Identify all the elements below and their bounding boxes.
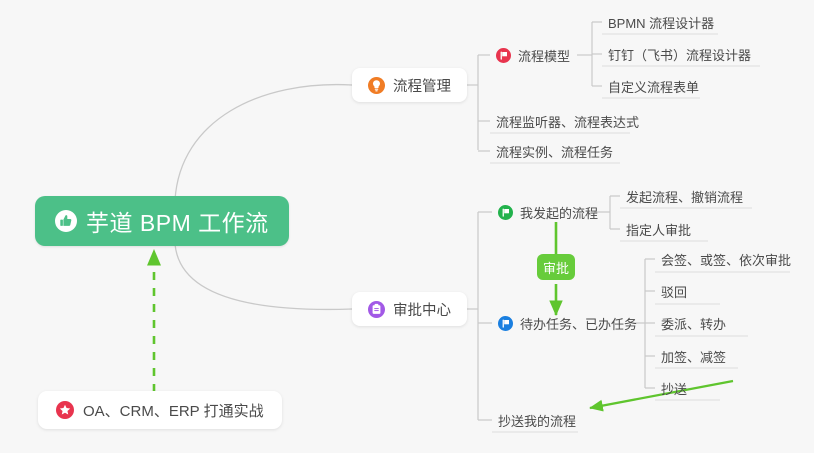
node-label-countersign: 会签、或签、依次审批: [661, 250, 791, 269]
node-label-custom-form: 自定义流程表单: [608, 77, 699, 96]
node-cc[interactable]: 抄送: [657, 375, 691, 401]
green-flag-icon: [498, 205, 513, 220]
branch-node-process-management[interactable]: 流程管理: [352, 68, 467, 102]
node-bpmn-designer[interactable]: BPMN 流程设计器: [604, 9, 718, 35]
root-node[interactable]: 芋道 BPM 工作流: [35, 196, 289, 246]
node-label-assigned-approval: 指定人审批: [626, 220, 691, 239]
node-label-add-remove-sign: 加签、减签: [661, 347, 726, 366]
node-label-process-model: 流程模型: [518, 46, 570, 65]
node-process-model[interactable]: 流程模型: [492, 42, 574, 68]
node-custom-form[interactable]: 自定义流程表单: [604, 73, 703, 99]
mindmap-canvas: 芋道 BPM 工作流 流程管理 流程模型 BPMN 流程设计器 钉钉（飞书: [0, 0, 814, 453]
node-label-todo-done-tasks: 待办任务、已办任务: [520, 314, 637, 333]
node-process-listener[interactable]: 流程监听器、流程表达式: [492, 108, 643, 134]
branch-node-approval-center[interactable]: 审批中心: [352, 292, 467, 326]
integration-callout[interactable]: OA、CRM、ERP 打通实战: [38, 391, 282, 429]
node-start-cancel-process[interactable]: 发起流程、撤销流程: [622, 183, 747, 209]
blue-flag-icon: [498, 316, 513, 331]
node-label-cc-my-process: 抄送我的流程: [498, 411, 576, 430]
node-todo-done-tasks[interactable]: 待办任务、已办任务: [494, 310, 641, 336]
node-process-instance[interactable]: 流程实例、流程任务: [492, 138, 617, 164]
node-label-process-instance: 流程实例、流程任务: [496, 142, 613, 161]
red-star-icon: [56, 401, 74, 419]
node-label-my-started-process: 我发起的流程: [520, 203, 598, 222]
node-label-dingtalk-designer: 钉钉（飞书）流程设计器: [608, 45, 751, 64]
thumbs-up-icon: [55, 210, 77, 232]
root-label: 芋道 BPM 工作流: [86, 204, 269, 238]
branch-label-process-management: 流程管理: [393, 75, 451, 96]
node-label-delegate-transfer: 委派、转办: [661, 314, 726, 333]
lightbulb-icon: [368, 77, 385, 94]
node-label-process-listener: 流程监听器、流程表达式: [496, 112, 639, 131]
red-flag-icon: [496, 48, 511, 63]
node-label-start-cancel-process: 发起流程、撤销流程: [626, 187, 743, 206]
clipboard-icon: [368, 301, 385, 318]
node-cc-my-process[interactable]: 抄送我的流程: [494, 407, 580, 433]
approval-tag[interactable]: 审批: [537, 254, 575, 280]
branch-label-approval-center: 审批中心: [393, 299, 451, 320]
node-add-remove-sign[interactable]: 加签、减签: [657, 343, 730, 369]
node-dingtalk-designer[interactable]: 钉钉（飞书）流程设计器: [604, 41, 755, 67]
node-delegate-transfer[interactable]: 委派、转办: [657, 310, 730, 336]
node-reject[interactable]: 驳回: [657, 278, 691, 304]
node-label-reject: 驳回: [661, 282, 687, 301]
approval-tag-label: 审批: [543, 258, 569, 277]
node-assigned-approval[interactable]: 指定人审批: [622, 216, 695, 242]
node-countersign[interactable]: 会签、或签、依次审批: [657, 246, 795, 272]
node-my-started-process[interactable]: 我发起的流程: [494, 199, 602, 225]
node-label-bpmn-designer: BPMN 流程设计器: [608, 13, 714, 32]
integration-callout-label: OA、CRM、ERP 打通实战: [83, 400, 264, 421]
node-label-cc: 抄送: [661, 379, 687, 398]
